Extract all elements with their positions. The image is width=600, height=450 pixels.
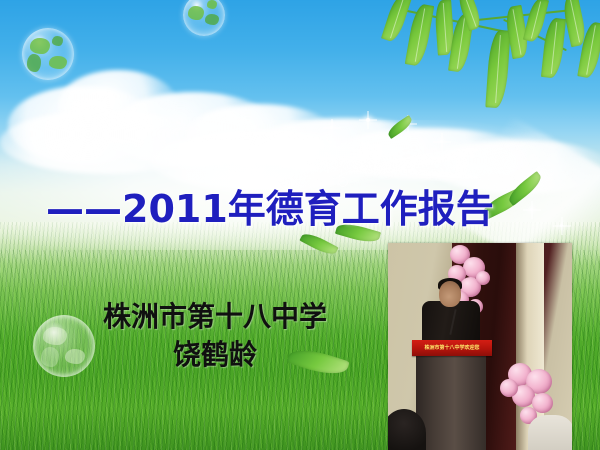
slide-subtitle-block: 株洲市第十八中学 饶鹤龄 — [60, 298, 370, 373]
earth-bubble-icon — [22, 28, 74, 80]
sparkle-icon — [330, 126, 333, 129]
speaker-head — [439, 281, 461, 307]
podium-banner: 株洲市第十八中学欢迎您 — [412, 340, 492, 356]
sparkle-icon — [300, 142, 303, 145]
podium-banner-text: 株洲市第十八中学欢迎您 — [412, 340, 492, 356]
audience-person — [528, 415, 572, 450]
sparkle-icon — [470, 154, 474, 158]
podium — [416, 343, 486, 450]
slide-title: ——2011年德育工作报告 — [46, 178, 546, 233]
sparkle-icon — [366, 118, 370, 122]
sparkle-icon — [560, 224, 563, 227]
speaker-photo: 株洲市第十八中学欢迎您 — [388, 243, 572, 450]
subtitle-school-name: 株洲市第十八中学 — [60, 298, 370, 336]
sparkle-icon — [440, 140, 443, 143]
sparkle-icon — [132, 114, 135, 117]
subtitle-presenter-name: 饶鹤龄 — [60, 336, 370, 374]
balloon-shape — [476, 271, 490, 285]
balloon-shape — [500, 379, 518, 397]
presentation-slide: ——2011年德育工作报告 株洲市第十八中学 饶鹤龄 株洲市第十八中学欢迎您 — [0, 0, 600, 450]
